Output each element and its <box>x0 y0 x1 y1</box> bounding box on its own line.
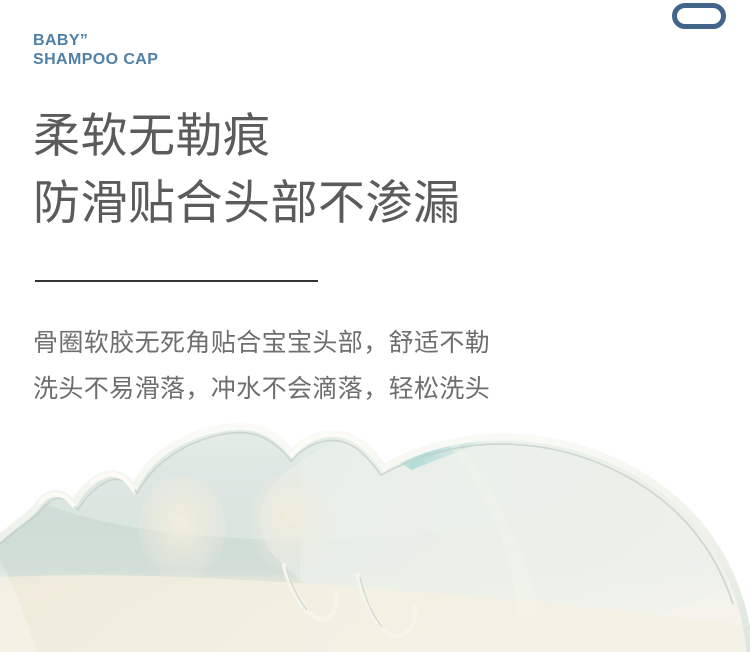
headline-line-2: 防滑贴合头部不渗漏 <box>33 170 633 237</box>
product-detail-page: BABY” SHAMPOO CAP 柔软无勒痕 防滑贴合头部不渗漏 骨圈软胶无死… <box>0 0 750 652</box>
description-line-1: 骨圈软胶无死角贴合宝宝头部，舒适不勒 <box>33 320 653 366</box>
headline-line-1: 柔软无勒痕 <box>33 103 633 170</box>
product-image <box>0 410 750 652</box>
page-title: 柔软无勒痕 防滑贴合头部不渗漏 <box>33 103 633 236</box>
divider-rule <box>35 280 318 282</box>
brand-wordmark: BABY” SHAMPOO CAP <box>33 32 158 70</box>
product-illustration <box>0 410 750 652</box>
pill-badge-icon <box>672 3 726 29</box>
brand-line-baby: BABY” <box>33 32 158 51</box>
description-line-2: 洗头不易滑落，冲水不会滴落，轻松洗头 <box>33 366 653 412</box>
brand-line-shampoo-cap: SHAMPOO CAP <box>33 51 158 70</box>
description-text: 骨圈软胶无死角贴合宝宝头部，舒适不勒 洗头不易滑落，冲水不会滴落，轻松洗头 <box>33 320 653 413</box>
